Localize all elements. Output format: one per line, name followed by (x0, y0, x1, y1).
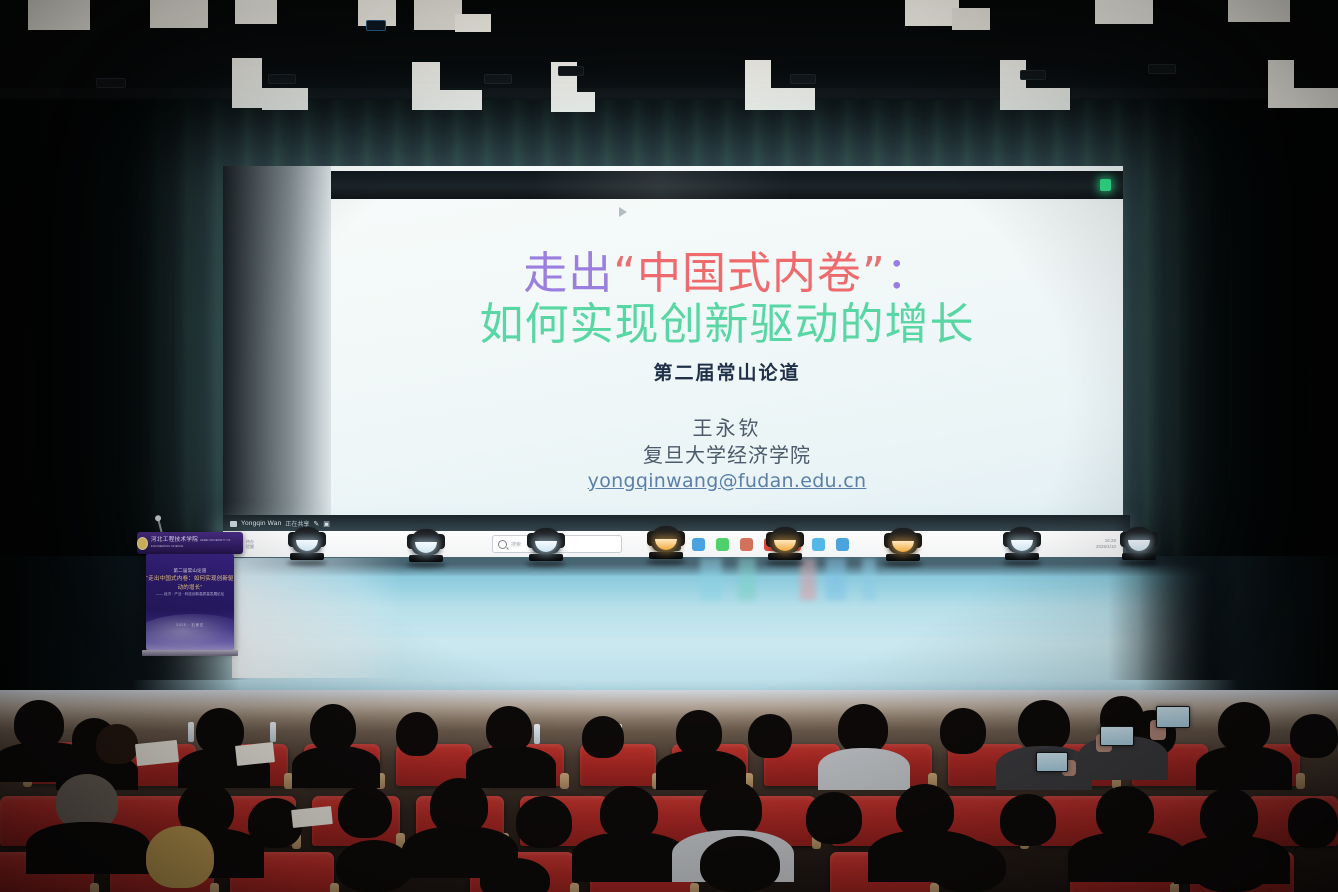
moving-head-spotlight (770, 527, 805, 566)
ceiling-fixture (1148, 64, 1176, 74)
ceiling-light-panel (1000, 60, 1026, 110)
phone-screen (1101, 727, 1133, 745)
moving-head-spotlight (531, 528, 566, 567)
audience-head (582, 716, 624, 758)
lectern-org-text: 河北工程技术学院 HEBEI UNIVERSITY OF ENGINEERING… (151, 537, 243, 549)
title-segment-purple: 走出 (523, 248, 613, 299)
audience-head (516, 796, 572, 848)
phone (1156, 706, 1190, 728)
search-placeholder: 搜索 (511, 541, 521, 548)
light-shadow (646, 559, 686, 565)
moving-head-spotlight (1124, 527, 1159, 566)
ceiling-light-panel (412, 62, 440, 110)
ceiling-light-panel (150, 0, 208, 28)
lectern: 河北工程技术学院 HEBEI UNIVERSITY OF ENGINEERING… (137, 532, 243, 660)
light-lens-icon (774, 540, 796, 551)
author-name: 王永钦 (331, 415, 1123, 441)
water-bottle (270, 722, 276, 742)
ceiling-light-panel (771, 88, 815, 110)
light-base (409, 555, 443, 562)
audience-shoulders (1068, 832, 1186, 882)
audience-head (700, 836, 780, 892)
ceiling-light-panel (235, 0, 277, 24)
light-base (1005, 553, 1039, 560)
moving-head-spotlight (411, 529, 446, 568)
video-call-icon[interactable] (692, 538, 705, 551)
author-organization: 复旦大学经济学院 (331, 442, 1123, 468)
handout-paper (235, 742, 275, 766)
armrest (560, 773, 569, 789)
camera-icon (230, 521, 237, 527)
title-quote-open: “ (613, 248, 637, 299)
lectern-body: 第二届常山论道 “走出中国式内卷：如何实现创新驱动的增长” —— 经济 · 产业… (146, 554, 234, 650)
ceiling-light-panel (745, 60, 771, 110)
light-shadow (1119, 560, 1159, 566)
audience-area (0, 690, 1338, 892)
ceiling-light-panel (232, 58, 262, 108)
light-head (411, 529, 441, 555)
moving-head-spotlight (1007, 527, 1042, 566)
armrest (330, 883, 339, 892)
slide-author-block: 王永钦 复旦大学经济学院 yongqinwang@fudan.edu.cn (331, 415, 1123, 494)
audience-shoulders (1196, 746, 1292, 790)
ceiling-light-panel (440, 90, 482, 110)
light-shadow (406, 562, 446, 568)
audience-head (1000, 794, 1056, 846)
audience-head (838, 704, 888, 754)
wechat-icon[interactable] (716, 538, 729, 551)
audience-head (310, 704, 356, 752)
audience-head (1018, 700, 1070, 752)
light-shadow (526, 561, 566, 567)
audience-shoulders (26, 822, 150, 874)
ceiling-light-panel (905, 0, 959, 26)
light-base (649, 552, 683, 559)
lectern-graphic-swoosh (146, 614, 234, 650)
projected-slide: 走出“中国式内卷”： 如何实现创新驱动的增长 第二届常山论道 王永钦 复旦大学经… (331, 166, 1123, 531)
search-icon (498, 540, 507, 549)
light-shadow (1002, 560, 1042, 566)
moving-head-spotlight (292, 527, 327, 566)
armrest (690, 883, 699, 892)
audience-head (806, 792, 862, 844)
ceiling-light-panel (28, 0, 90, 30)
light-base (290, 553, 324, 560)
water-bottle (188, 722, 194, 742)
ceiling-light-panel (1026, 88, 1070, 110)
audience-head (96, 724, 138, 764)
audience-shoulders (466, 746, 556, 788)
ceiling-light-panel (1294, 88, 1338, 108)
armrest (210, 883, 219, 892)
taskbar-app-icons[interactable] (668, 538, 849, 551)
title-segment-red: 中国式内卷 (637, 248, 862, 299)
light-head (888, 528, 918, 554)
ceiling-fixture (268, 74, 296, 84)
light-shadow (765, 560, 805, 566)
ceiling-light-panel (1268, 60, 1294, 108)
audience-head (146, 826, 214, 888)
title-colon: ： (886, 248, 931, 299)
audience-head (1290, 714, 1338, 758)
slide-title-line-2: 如何实现创新驱动的增长 (331, 302, 1123, 349)
projection-screen: 走出“中国式内卷”： 如何实现创新驱动的增长 第二届常山论道 王永钦 复旦大学经… (223, 166, 1123, 531)
lectern-org-name: 河北工程技术学院 (151, 537, 198, 543)
ceiling-light-panel (1095, 0, 1153, 24)
light-head (292, 527, 322, 553)
taskbar-left-label-2: 提醒 (246, 544, 254, 549)
audience-head (14, 700, 64, 748)
author-email-link[interactable]: yongqinwang@fudan.edu.cn (331, 468, 1123, 495)
audience-head (336, 840, 412, 892)
light-lens-icon (1011, 540, 1033, 551)
taskbar-left-labels: 待办 提醒 (246, 539, 254, 549)
ceiling-light-panel (455, 14, 491, 32)
light-shadow (883, 561, 923, 567)
slide-content: 走出“中国式内卷”： 如何实现创新驱动的增长 第二届常山论道 王永钦 复旦大学经… (331, 199, 1123, 531)
light-base (886, 554, 920, 561)
lectern-banner-text: 第二届常山论道 “走出中国式内卷：如何实现创新驱动的增长” —— 经济 · 产业… (146, 568, 234, 598)
light-head (531, 528, 561, 554)
armrest (1296, 773, 1305, 789)
audience-head (1190, 832, 1272, 892)
phone (1036, 752, 1068, 772)
light-lens-icon (415, 542, 437, 553)
audience-head (1218, 702, 1270, 752)
phone-screen (1037, 753, 1067, 771)
light-lens-icon (892, 541, 914, 552)
floor-reflection (738, 558, 756, 600)
university-emblem-icon (137, 537, 148, 550)
presentation-toolbar[interactable] (331, 171, 1123, 199)
ceiling-light-panel (1228, 0, 1290, 22)
toolbar-glare (531, 171, 791, 199)
audience-shoulders (292, 746, 380, 788)
recording-indicator-icon (1100, 179, 1111, 191)
lectern-banner-line-1: 第二届常山论道 (146, 568, 234, 575)
lectern-banner-line-2: “走出中国式内卷：如何实现创新驱动的增长” (146, 575, 234, 593)
floor-reflection (862, 558, 876, 600)
floor-reflection (826, 558, 846, 600)
lectern-top-panel: 河北工程技术学院 HEBEI UNIVERSITY OF ENGINEERING… (137, 532, 243, 554)
title-quote-close: ” (862, 248, 886, 299)
ceiling-light-panel (952, 8, 990, 30)
audience-head (396, 712, 438, 756)
ceiling-light-panel (262, 88, 308, 110)
water-bottle (534, 724, 540, 744)
lectern-base (142, 650, 238, 656)
ceiling-fixture (558, 66, 584, 76)
moving-head-spotlight (888, 528, 923, 567)
audience-shoulders (818, 748, 910, 790)
light-head (1007, 527, 1037, 553)
armrest (90, 883, 99, 892)
phone-screen (1157, 707, 1189, 727)
audience-head (338, 786, 392, 838)
floor-reflection (700, 558, 722, 600)
photos-icon[interactable] (812, 538, 825, 551)
light-base (1122, 553, 1156, 560)
slide-title-line-1: 走出“中国式内卷”： (331, 251, 1123, 298)
audience-head (748, 714, 792, 758)
light-head (651, 526, 681, 552)
moving-head-spotlight (651, 526, 686, 565)
qq-icon[interactable] (740, 538, 753, 551)
lectern-banner-line-3: —— 经济 · 产业 · 科技创新高质量发展论坛 (146, 592, 234, 598)
light-shadow (287, 560, 327, 566)
audience-head (940, 708, 986, 754)
audience-head (1288, 798, 1338, 848)
light-head (770, 527, 800, 553)
handout-paper (135, 740, 179, 766)
slide-subtitle: 第二届常山论道 (331, 358, 1123, 385)
lecture-hall-scene: 走出“中国式内卷”： 如何实现创新驱动的增长 第二届常山论道 王永钦 复旦大学经… (0, 0, 1338, 892)
light-base (529, 554, 563, 561)
armrest (1170, 883, 1179, 892)
light-lens-icon (535, 541, 557, 552)
light-base (768, 553, 802, 560)
light-lens-icon (655, 539, 677, 550)
presenter-window-title: Yongqin Wan (241, 520, 281, 527)
armrest (570, 883, 579, 892)
ceiling-fixture (1020, 70, 1046, 80)
ceiling-fixture (96, 78, 126, 88)
ceiling-indicator-icon (366, 20, 386, 31)
ceiling-light-panel (551, 92, 595, 112)
lighting-truss (0, 88, 1338, 98)
audience-head (930, 840, 1006, 892)
floor-highlight (232, 558, 402, 678)
light-lens-icon (296, 540, 318, 551)
audience-shoulders (572, 832, 688, 882)
ceiling-fixture (790, 74, 816, 84)
lectern-banner-date: 2025 · 石家庄 (146, 623, 234, 628)
weather-icon[interactable] (836, 538, 849, 551)
screen-light-spill (223, 166, 335, 531)
ceiling-fixture (484, 74, 512, 84)
phone (1100, 726, 1134, 746)
light-lens-icon (1128, 540, 1150, 551)
light-head (1124, 527, 1154, 553)
